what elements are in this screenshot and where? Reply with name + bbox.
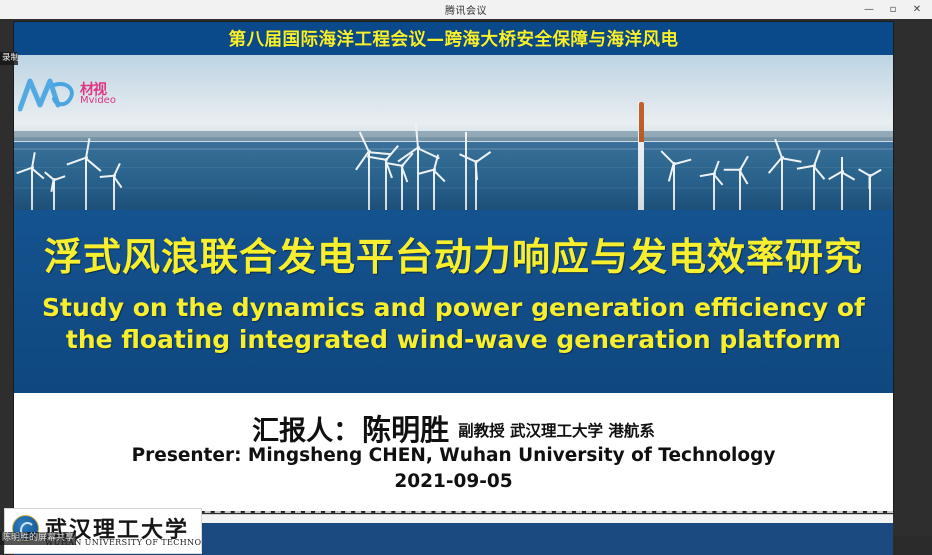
conference-title: 第八届国际海洋工程会议—跨海大桥安全保障与海洋风电 xyxy=(229,26,679,51)
presenter-label: 汇报人： xyxy=(252,416,360,447)
presenter-affiliation: 副教授 武汉理工大学 港航系 xyxy=(458,422,655,440)
offshore-wind-farm-photo: 材视 Mvideo xyxy=(14,55,893,210)
main-title-chinese: 浮式风浪联合发电平台动力响应与发电效率研究 xyxy=(14,226,893,281)
turbine-mast xyxy=(841,172,843,210)
presenter-line-english: Presenter: Mingsheng CHEN, Wuhan Univers… xyxy=(14,445,893,466)
screen-share-label: 陈明胜的屏幕共享 xyxy=(0,532,76,545)
photo-horizon-line xyxy=(14,137,893,141)
subtitle-line-2: the floating integrated wind-wave genera… xyxy=(14,324,893,356)
presentation-slide[interactable]: 第八届国际海洋工程会议—跨海大桥安全保障与海洋风电 xyxy=(14,22,893,511)
turbine-mast xyxy=(739,170,741,210)
turbine-mast xyxy=(433,170,435,210)
shared-screen-stage: 第八届国际海洋工程会议—跨海大桥安全保障与海洋风电 xyxy=(0,19,932,536)
turbine-blade xyxy=(841,157,843,172)
window-controls: — ▫ ✕ xyxy=(858,0,928,19)
turbine-mast xyxy=(813,166,815,210)
recording-badge: 录制中 xyxy=(0,52,18,65)
turbine-mast xyxy=(713,174,715,210)
sea-streak xyxy=(14,167,893,169)
tower-top xyxy=(639,102,644,142)
university-logo: 武汉理工大学 WUHAN UNIVERSITY OF TECHNOLOGY xyxy=(4,508,202,554)
presenter-block: 汇报人：陈明胜副教授 武汉理工大学 港航系 Presenter: Mingshe… xyxy=(14,393,893,511)
subtitle-english: Study on the dynamics and power generati… xyxy=(14,292,893,356)
presenter-name: 陈明胜 xyxy=(362,413,449,447)
turbine-mast xyxy=(85,158,87,210)
tencent-meeting-window: 腾讯会议 — ▫ ✕ 第八届国际海洋工程会议—跨海大桥安全保障与海洋风电 xyxy=(0,0,932,536)
turbine-mast xyxy=(465,132,467,210)
presenter-line-chinese: 汇报人：陈明胜副教授 武汉理工大学 港航系 xyxy=(14,407,893,449)
subtitle-line-1: Study on the dynamics and power generati… xyxy=(14,292,893,324)
orange-tower xyxy=(638,102,644,210)
turbine-blade xyxy=(724,169,740,171)
turbine-mast xyxy=(368,152,370,210)
turbine-mast xyxy=(417,148,419,210)
turbine-mast xyxy=(113,176,115,210)
close-icon[interactable]: ✕ xyxy=(906,1,928,18)
window-title: 腾讯会议 xyxy=(445,2,487,17)
maximize-icon[interactable]: ▫ xyxy=(882,1,904,18)
slide-header-band: 第八届国际海洋工程会议—跨海大桥安全保障与海洋风电 xyxy=(14,22,893,55)
slide-title-area: 浮式风浪联合发电平台动力响应与发电效率研究 Study on the dynam… xyxy=(14,210,893,393)
turbine-mast xyxy=(31,168,33,210)
turbine-mast xyxy=(673,164,675,210)
presentation-date: 2021-09-05 xyxy=(14,471,893,492)
sea-streak xyxy=(14,187,893,189)
minimize-icon[interactable]: — xyxy=(858,1,880,18)
photo-sky xyxy=(14,55,893,142)
sea-streak xyxy=(14,148,893,150)
turbine-mast xyxy=(781,158,783,210)
photo-sea xyxy=(14,142,893,210)
window-title-bar: 腾讯会议 — ▫ ✕ xyxy=(0,0,932,20)
